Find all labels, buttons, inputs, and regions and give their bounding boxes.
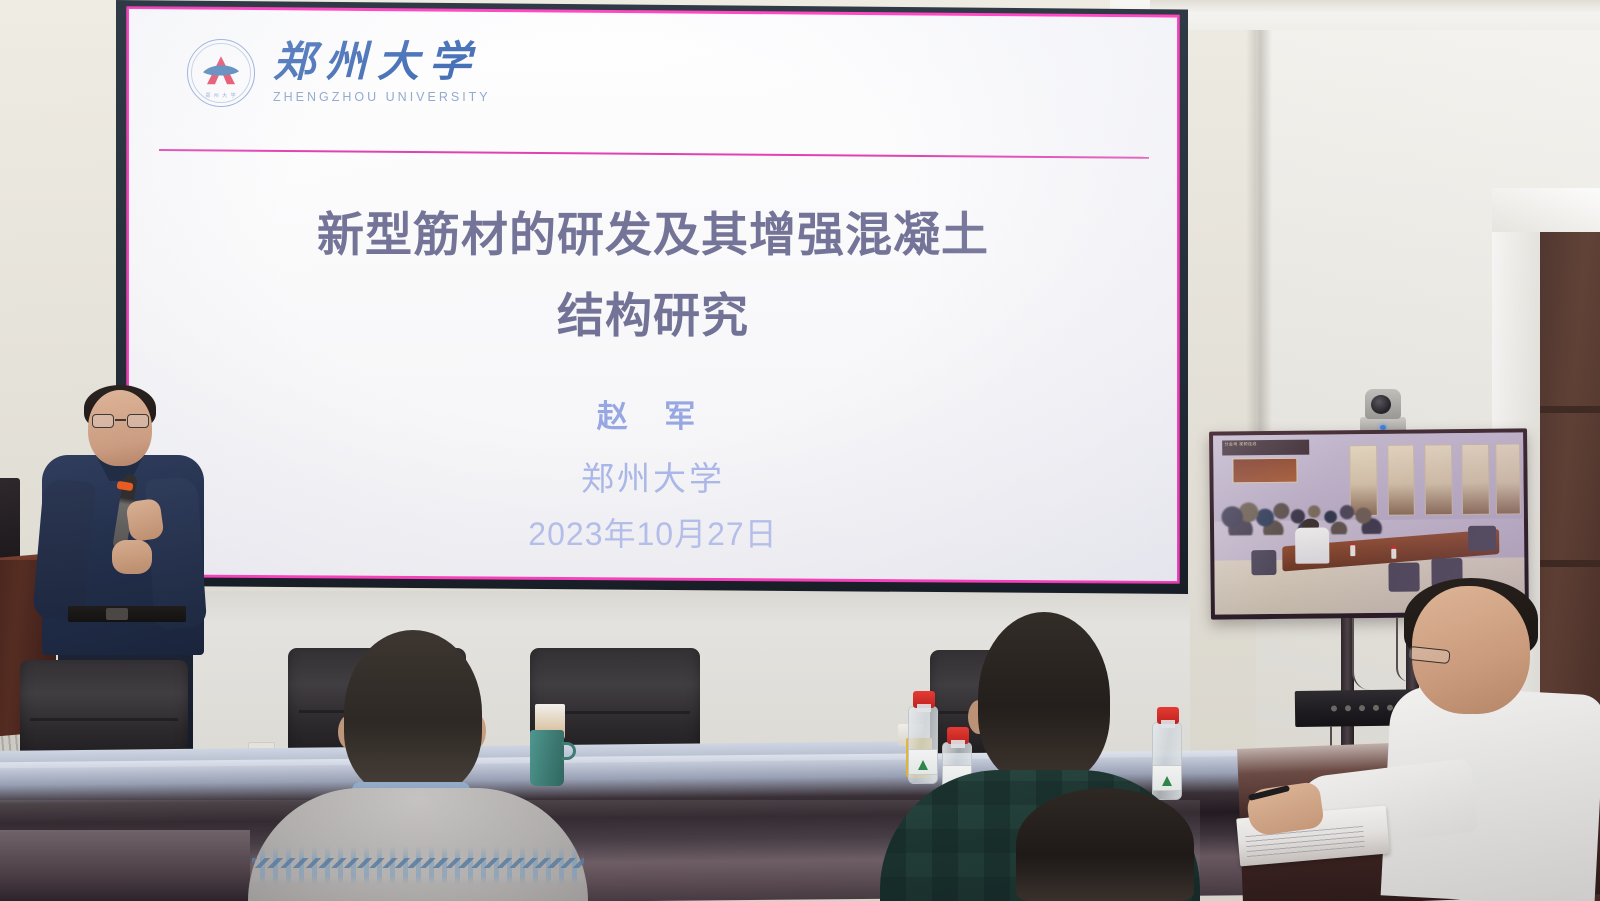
attendee-3-head [1016,788,1194,901]
presenter-glasses-icon [92,414,149,429]
university-wordmark: 郑州大学 ZHENGZHOU UNIVERSITY [273,42,491,104]
remote-room-artwork [1232,458,1297,484]
switcher-port [1345,705,1351,711]
ptz-conference-camera-icon [1356,387,1410,433]
switcher-port [1373,705,1379,711]
presenter-other-hand [112,540,152,574]
zhengzhou-university-seal-icon: 郑 州 大 学 [187,39,255,107]
slide-title-line-1: 新型筋材的研发及其增强混凝土 [129,195,1177,276]
teal-mug[interactable] [530,730,564,786]
ceiling-edge [1150,0,1600,12]
presenter-hand-holding-mic [125,498,164,542]
remote-bottle [1351,545,1356,556]
switcher-port [1359,705,1365,711]
seal-mark-icon [199,52,243,92]
attendee-1-head [344,630,482,796]
glasses-lens-right [127,414,149,428]
remote-speaker [1295,528,1329,564]
slide: 郑 州 大 学 郑州大学 ZHENGZHOU UNIVERSITY 新型筋材的研… [129,9,1177,581]
remote-bottle [1391,548,1396,559]
bottle-neck [951,740,965,748]
slide-header: 郑 州 大 学 郑州大学 ZHENGZHOU UNIVERSITY [187,39,491,107]
slide-title: 新型筋材的研发及其增强混凝土 结构研究 [129,195,1177,357]
water-bottle[interactable] [908,706,938,784]
projection-screen: 郑 州 大 学 郑州大学 ZHENGZHOU UNIVERSITY 新型筋材的研… [116,0,1188,594]
slide-date: 2023年10月27日 [129,509,1177,555]
door-mullion [1540,560,1600,567]
remote-window [1495,443,1521,515]
remote-room-banner: 分会场 视频连线 [1222,440,1309,455]
university-name-en: ZHENGZHOU UNIVERSITY [273,90,491,104]
remote-banner-text: 分会场 视频连线 [1222,440,1309,449]
slide-author: 赵 军 [129,391,1177,436]
slide-header-divider [159,149,1149,159]
camera-lens-icon [1371,395,1391,414]
slide-title-line-2: 结构研究 [129,276,1177,357]
switcher-port [1331,705,1337,711]
seal-subtext: 郑 州 大 学 [188,92,254,99]
remote-window [1461,443,1490,515]
remote-window [1424,444,1453,516]
slide-surface: 郑 州 大 学 郑州大学 ZHENGZHOU UNIVERSITY 新型筋材的研… [129,9,1177,581]
av-cable [1352,618,1370,690]
remote-chair [1251,550,1276,575]
attendee-2-head [978,612,1110,784]
remote-chair [1388,562,1419,591]
slide-organization: 郑州大学 [129,452,1177,500]
glasses-bridge [115,419,126,421]
attendee-1-sweater-zigzag [252,858,584,868]
presenter-belt-buckle [106,608,128,620]
university-name-cn: 郑州大学 [273,42,491,84]
bottle-neck [917,704,931,712]
remote-chair [1468,526,1496,551]
door-header [1492,188,1600,232]
water-bottle[interactable] [1152,722,1182,800]
door-mullion [1540,406,1600,413]
conference-table-lower [0,830,250,901]
conference-room-photo: 郑 州 大 学 郑州大学 ZHENGZHOU UNIVERSITY 新型筋材的研… [0,0,1600,901]
glasses-lens-left [92,414,114,428]
attendee-1-sweater-pattern [252,846,584,901]
bottle-neck [1161,720,1175,728]
